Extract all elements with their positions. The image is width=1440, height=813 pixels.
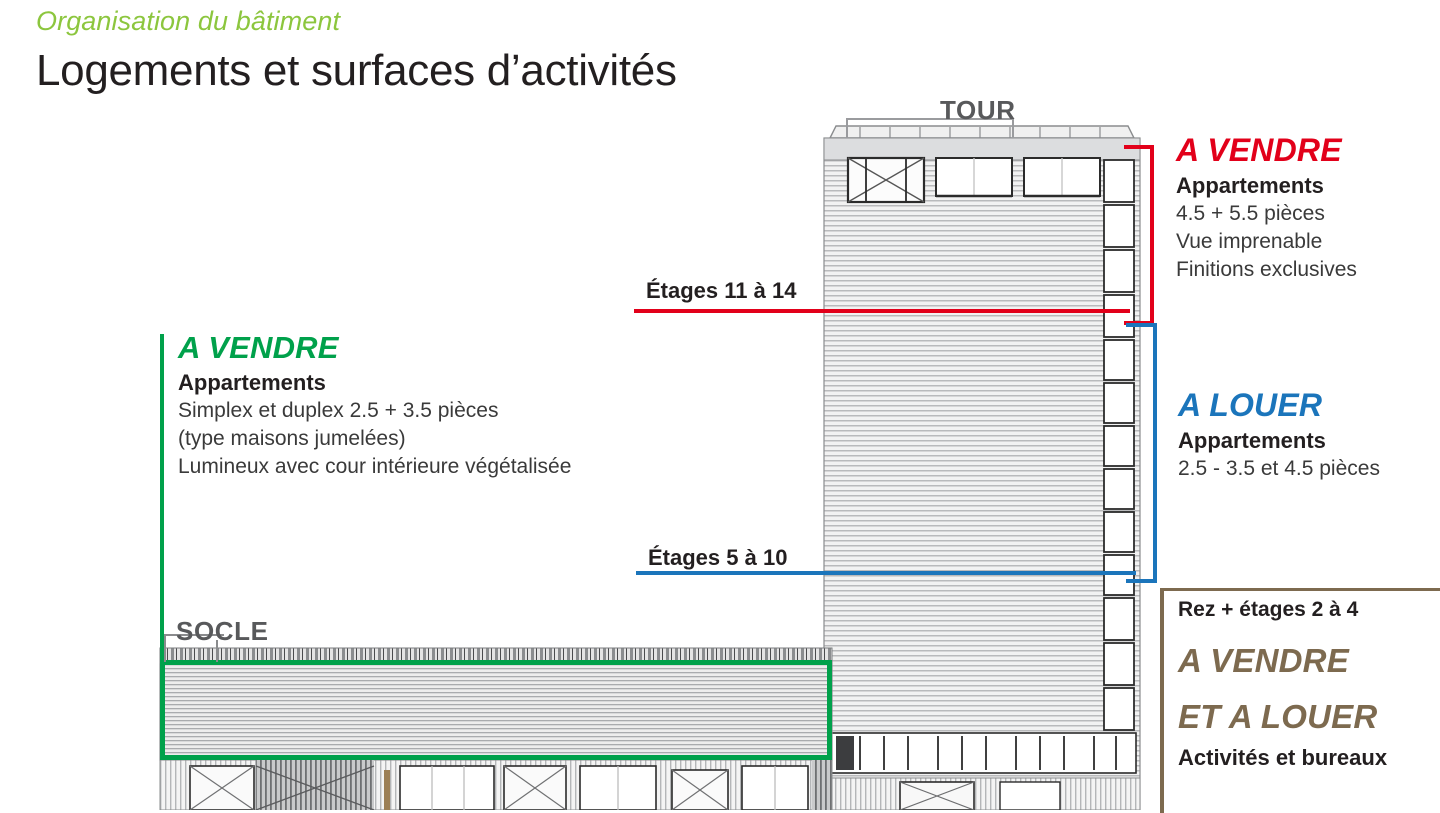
red-line-2: Vue imprenable — [1176, 228, 1357, 256]
annotation-brown-commercial: Rez + étages 2 à 4 A VENDRE ET A LOUER A… — [1178, 598, 1387, 772]
green-line-2: (type maisons jumelées) — [178, 425, 571, 453]
floor-label-upper: Étages 11 à 14 — [646, 278, 796, 304]
tower-floor-rows — [848, 158, 1100, 202]
brown-heading-line-1: A VENDRE — [1178, 644, 1387, 678]
tower-commercial-floor — [828, 733, 1136, 773]
socle-highlight-box — [160, 660, 832, 760]
slide-root: Organisation du bâtiment Logements et su… — [0, 0, 1440, 810]
annotation-green-for-sale: A VENDRE Appartements Simplex et duplex … — [178, 332, 571, 481]
socle-callout-label: SOCLE — [176, 616, 269, 647]
green-line-3: Lumineux avec cour intérieure végétalisé… — [178, 453, 571, 481]
tower-ground-floor — [824, 778, 1140, 810]
brown-heading-line-2: ET A LOUER — [1178, 700, 1387, 734]
tower-volume — [824, 126, 1140, 810]
blue-heading: A LOUER — [1178, 389, 1380, 422]
red-line-3: Finitions exclusives — [1176, 256, 1357, 284]
brown-kicker: Rez + étages 2 à 4 — [1178, 598, 1387, 622]
annotation-red-for-sale: A VENDRE Appartements 4.5 + 5.5 pièces V… — [1176, 134, 1357, 284]
annotation-blue-for-rent: A LOUER Appartements 2.5 - 3.5 et 4.5 pi… — [1178, 389, 1380, 483]
blue-bracket — [1126, 323, 1157, 583]
red-leader-line — [634, 309, 1130, 313]
tower-callout-label: TOUR — [940, 95, 1016, 126]
green-accent-rule — [160, 334, 164, 662]
blue-subheading: Appartements — [1178, 427, 1380, 455]
red-bracket — [1124, 145, 1154, 325]
green-subheading: Appartements — [178, 369, 571, 397]
blue-line-1: 2.5 - 3.5 et 4.5 pièces — [1178, 455, 1380, 483]
floor-label-middle: Étages 5 à 10 — [648, 545, 787, 571]
red-subheading: Appartements — [1176, 172, 1357, 200]
blue-leader-line — [636, 571, 1136, 575]
green-line-1: Simplex et duplex 2.5 + 3.5 pièces — [178, 397, 571, 425]
tower-floor-row — [848, 158, 1100, 202]
green-heading: A VENDRE — [178, 332, 571, 364]
brown-subheading: Activités et bureaux — [1178, 744, 1387, 772]
red-heading: A VENDRE — [1176, 134, 1357, 167]
red-line-1: 4.5 + 5.5 pièces — [1176, 200, 1357, 228]
